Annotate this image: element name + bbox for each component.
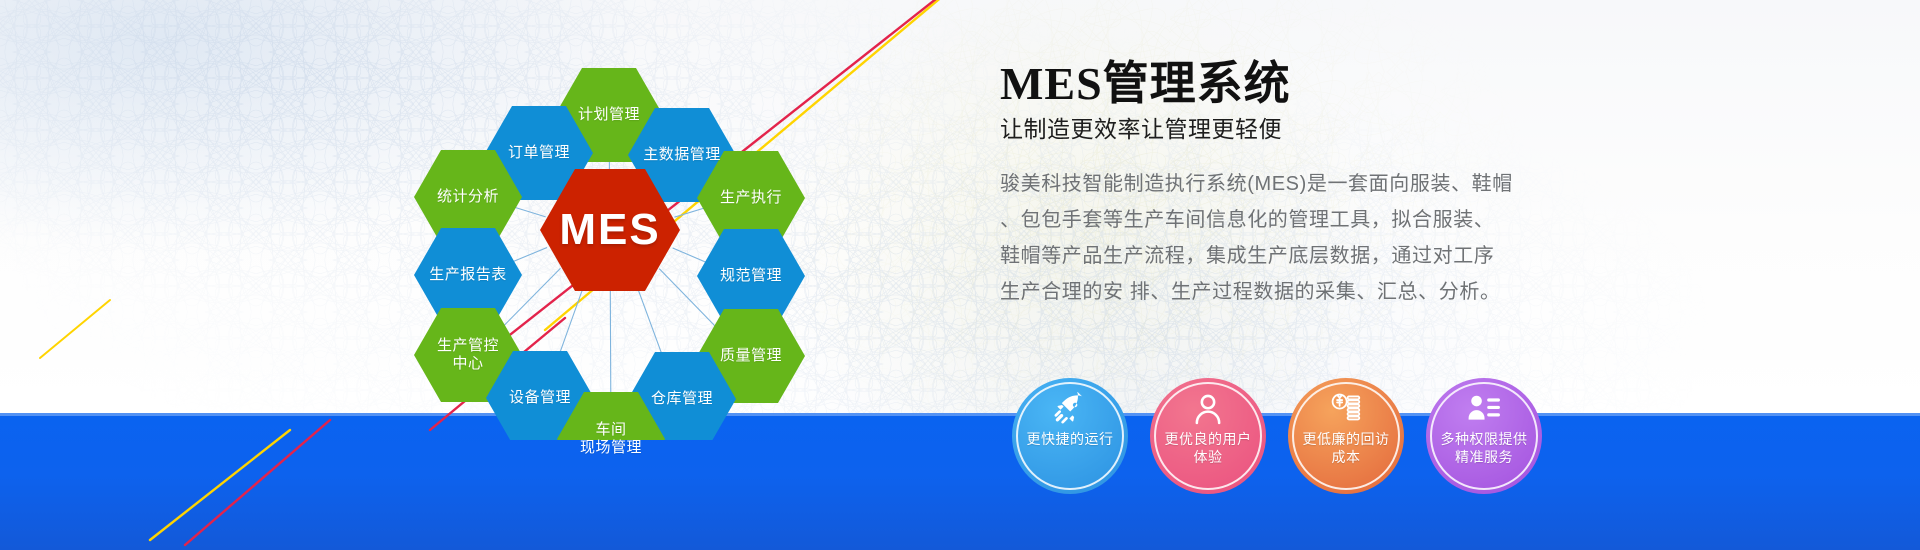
feature-badge[interactable]: 更低廉的回访 成本	[1288, 378, 1404, 494]
rocket-icon	[1053, 386, 1087, 426]
diagram-node-hexagon[interactable]	[414, 228, 522, 322]
diagram-link	[610, 288, 611, 399]
mes-hexagon-diagram: 计划管理订单管理主数据管理统计分析生产执行生产报告表规范管理生产管控 中心质量管…	[400, 20, 820, 440]
feature-badge-list: 更快捷的运行更优良的用户 体验更低廉的回访 成本多种权限提供 精准服务	[1012, 378, 1542, 494]
description-line: 鞋帽等产品生产流程，集成生产底层数据，通过对工序	[1000, 242, 1900, 270]
description-line: 、包包手套等生产车间信息化的管理工具，拟合服装、	[1000, 206, 1900, 234]
hero-description: 骏美科技智能制造执行系统(MES)是一套面向服装、鞋帽、包包手套等生产车间信息化…	[1000, 170, 1900, 306]
badge-label: 更优良的用户 体验	[1165, 430, 1252, 466]
center-node-label: MES	[559, 205, 660, 255]
user-icon	[1191, 386, 1225, 426]
diagram-node-hexagon[interactable]	[697, 229, 805, 323]
description-line: 生产合理的安 排、生产过程数据的采集、汇总、分析。	[1000, 278, 1900, 306]
diagram-link	[510, 248, 547, 263]
diagram-link	[636, 283, 665, 362]
description-line: 骏美科技智能制造执行系统(MES)是一套面向服装、鞋帽	[1000, 170, 1900, 198]
page-subtitle: 让制造更效率让管理更轻便	[1000, 114, 1900, 144]
permissions-icon	[1467, 386, 1501, 426]
feature-badge[interactable]: 更快捷的运行	[1012, 378, 1128, 494]
badge-label: 多种权限提供 精准服务	[1441, 430, 1528, 466]
diagram-link	[673, 248, 710, 264]
badge-label: 更快捷的运行	[1027, 430, 1114, 448]
diagram-link	[557, 284, 585, 362]
page-title: MES管理系统	[1000, 58, 1900, 110]
badge-label: 更低廉的回访 成本	[1303, 430, 1390, 466]
feature-badge[interactable]: 更优良的用户 体验	[1150, 378, 1266, 494]
diagram-link	[511, 206, 546, 217]
mes-banner: 计划管理订单管理主数据管理统计分析生产执行生产报告表规范管理生产管控 中心质量管…	[0, 0, 1920, 550]
coins-icon	[1329, 386, 1363, 426]
feature-badge[interactable]: 多种权限提供 精准服务	[1426, 378, 1542, 494]
hero-text-column: MES管理系统 让制造更效率让管理更轻便 骏美科技智能制造执行系统(MES)是一…	[1000, 58, 1900, 314]
